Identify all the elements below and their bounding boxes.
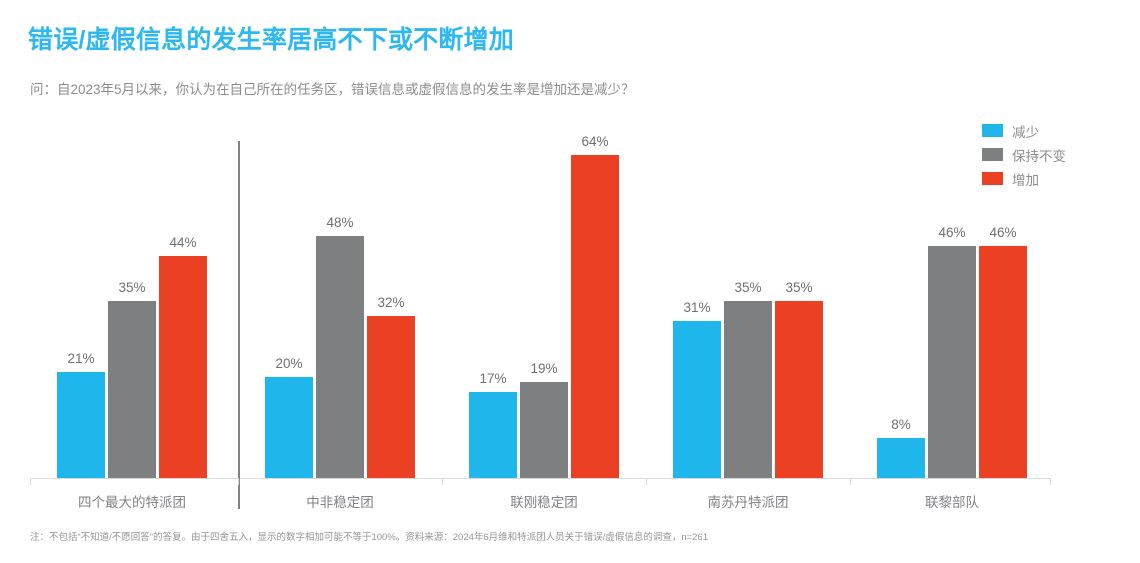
bar-item[interactable]: 31%	[673, 120, 721, 478]
x-axis-category-label: 联黎部队	[850, 491, 1054, 511]
bar-rect[interactable]	[265, 377, 313, 478]
bar-rect[interactable]	[877, 438, 925, 478]
bar-rect[interactable]	[108, 301, 156, 478]
bar-item[interactable]: 35%	[775, 120, 823, 478]
bar-item[interactable]: 21%	[57, 120, 105, 478]
bar-group: 21%35%44%四个最大的特派团	[30, 120, 234, 563]
bar-value-label: 19%	[530, 362, 557, 376]
x-axis-tick	[850, 478, 851, 485]
bar-value-label: 35%	[118, 281, 145, 295]
chart-footnote: 注：不包括“不知道/不愿回答”的答复。由于四舍五入，显示的数字相加可能不等于10…	[30, 529, 708, 543]
x-axis-tick	[646, 478, 647, 485]
bar-item[interactable]: 8%	[877, 120, 925, 478]
x-axis-category-label: 联刚稳定团	[442, 491, 646, 511]
bar-rect[interactable]	[979, 246, 1027, 478]
bar-item[interactable]: 35%	[724, 120, 772, 478]
x-axis-category-label: 四个最大的特派团	[30, 491, 234, 511]
x-axis-tick	[442, 478, 443, 485]
bar-item[interactable]: 19%	[520, 120, 568, 478]
bar-item[interactable]: 35%	[108, 120, 156, 478]
bar-value-label: 35%	[734, 281, 761, 295]
x-axis-category-label: 中非稳定团	[238, 491, 442, 511]
bar-group: 20%48%32%中非稳定团	[238, 120, 442, 563]
bar-rect[interactable]	[775, 301, 823, 478]
x-axis-tick	[1050, 478, 1051, 485]
bar-rect[interactable]	[159, 256, 207, 478]
bar-value-label: 32%	[377, 296, 404, 310]
bar-value-label: 46%	[938, 226, 965, 240]
x-axis-category-label: 南苏丹特派团	[646, 491, 850, 511]
bar-value-label: 31%	[683, 301, 710, 315]
bar-value-label: 64%	[581, 135, 608, 149]
bar-value-label: 44%	[169, 236, 196, 250]
bar-item[interactable]: 32%	[367, 120, 415, 478]
bar-value-label: 20%	[275, 357, 302, 371]
bar-group-bars: 17%19%64%	[442, 120, 646, 478]
bar-rect[interactable]	[928, 246, 976, 478]
bar-rect[interactable]	[469, 392, 517, 478]
bar-rect[interactable]	[57, 372, 105, 478]
bar-chart-plot: 21%35%44%四个最大的特派团20%48%32%中非稳定团17%19%64%…	[0, 0, 1140, 563]
bar-item[interactable]: 48%	[316, 120, 364, 478]
bar-rect[interactable]	[724, 301, 772, 478]
bar-group-bars: 21%35%44%	[30, 120, 234, 478]
bar-item[interactable]: 64%	[571, 120, 619, 478]
bar-item[interactable]: 17%	[469, 120, 517, 478]
bar-group-bars: 8%46%46%	[850, 120, 1054, 478]
bar-rect[interactable]	[367, 316, 415, 478]
bar-value-label: 48%	[326, 216, 353, 230]
bar-value-label: 17%	[479, 372, 506, 386]
bar-group: 8%46%46%联黎部队	[850, 120, 1054, 563]
bar-item[interactable]: 44%	[159, 120, 207, 478]
bar-rect[interactable]	[316, 236, 364, 478]
bar-value-label: 35%	[785, 281, 812, 295]
bar-value-label: 21%	[67, 352, 94, 366]
bar-item[interactable]: 20%	[265, 120, 313, 478]
bar-rect[interactable]	[571, 155, 619, 478]
bar-item[interactable]: 46%	[979, 120, 1027, 478]
bar-group-bars: 31%35%35%	[646, 120, 850, 478]
bar-group: 31%35%35%南苏丹特派团	[646, 120, 850, 563]
bar-value-label: 46%	[989, 226, 1016, 240]
bar-item[interactable]: 46%	[928, 120, 976, 478]
x-axis-tick	[238, 478, 239, 485]
bar-group-bars: 20%48%32%	[238, 120, 442, 478]
bar-rect[interactable]	[673, 321, 721, 478]
bar-group: 17%19%64%联刚稳定团	[442, 120, 646, 563]
x-axis-tick	[30, 478, 31, 485]
bar-rect[interactable]	[520, 382, 568, 478]
bar-value-label: 8%	[891, 418, 911, 432]
